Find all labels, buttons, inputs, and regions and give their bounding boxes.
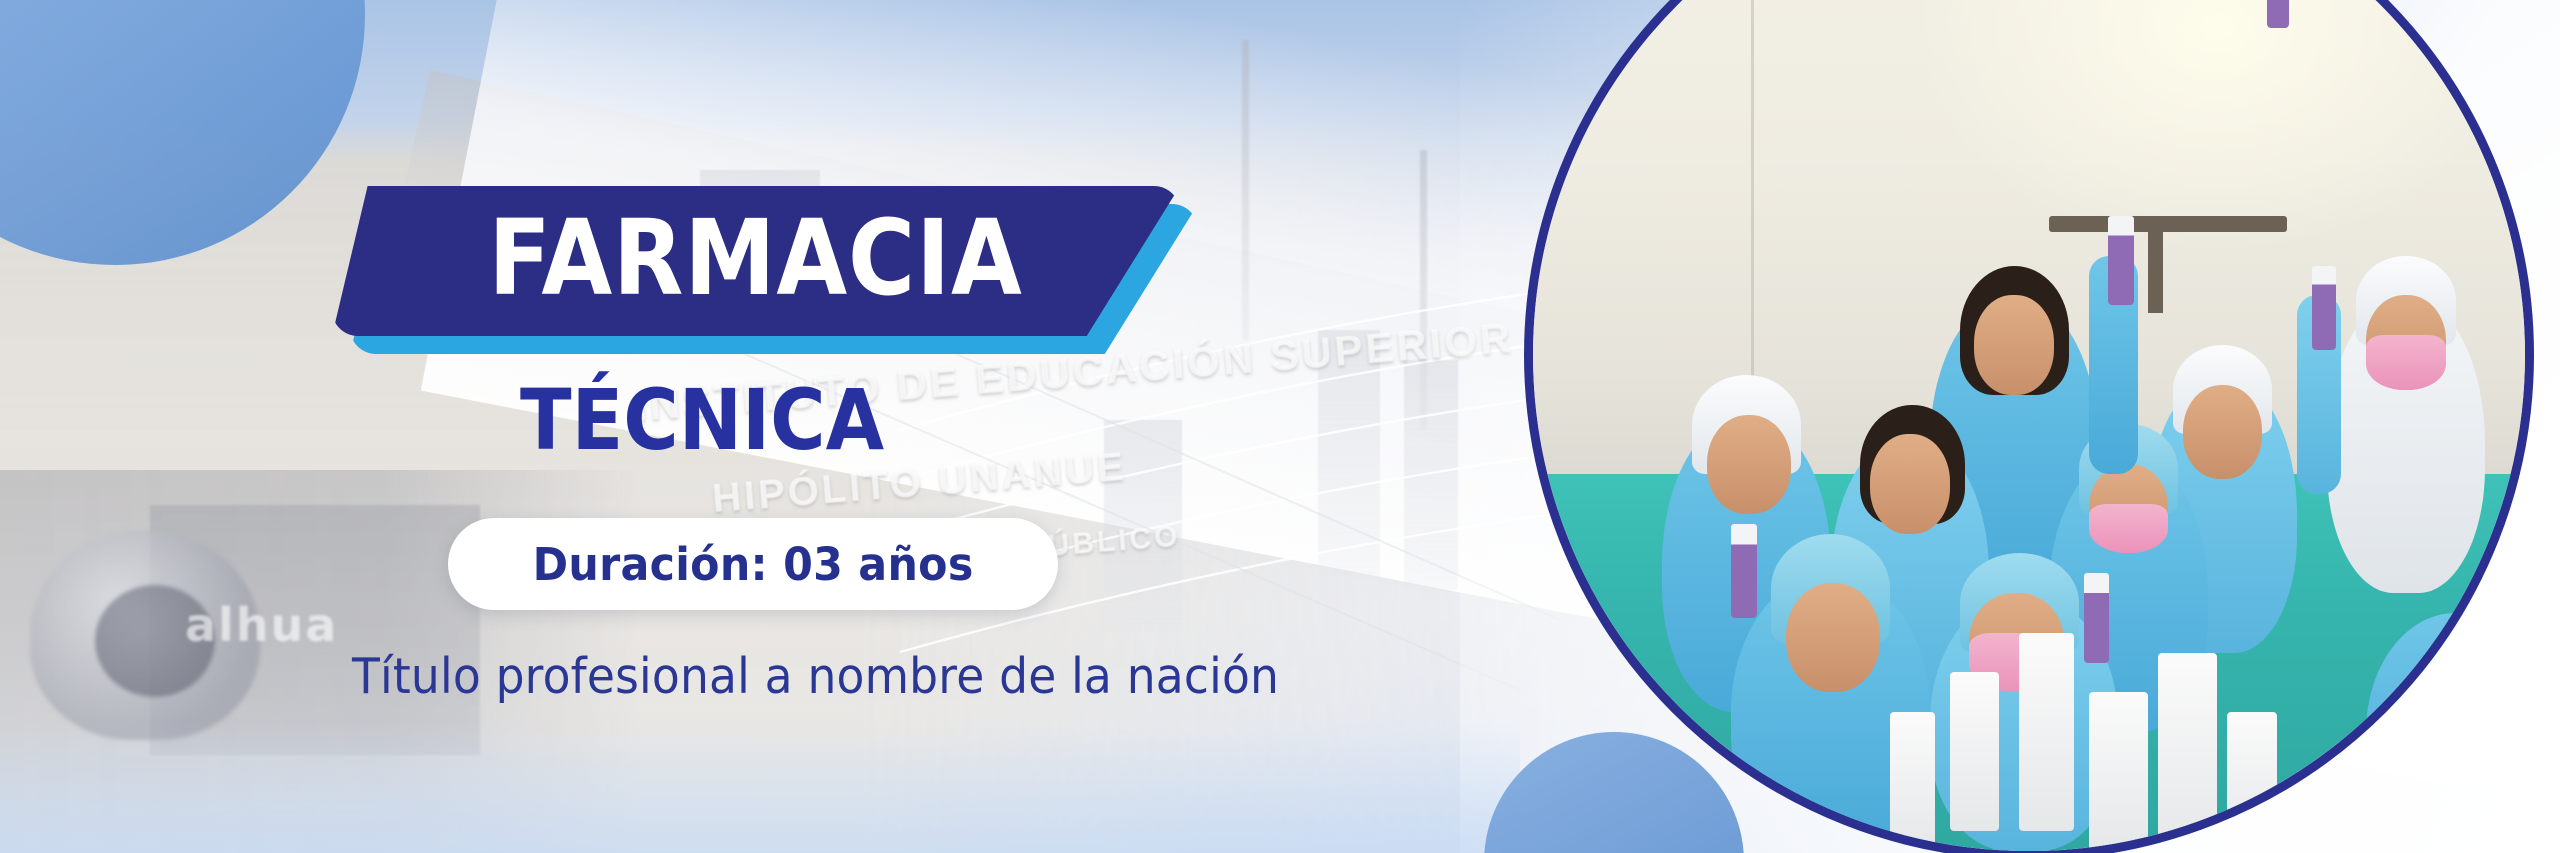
background-brand-text: alhua [185, 598, 338, 652]
lab-bottle [2227, 712, 2277, 851]
lab-bottle [1890, 712, 1935, 851]
photo-face-mask [2089, 504, 2168, 554]
product-bottle [2084, 573, 2110, 662]
photo-person-face [1974, 295, 2053, 394]
photo-wall-rail [2049, 216, 2287, 232]
photo-person-face [1707, 415, 1791, 514]
lab-bottle [2089, 692, 2149, 851]
program-title: FARMACIA [489, 206, 1023, 316]
program-subtitle: TÉCNICA [520, 378, 884, 462]
photo-person [2366, 613, 2534, 851]
photo-person-face [1870, 434, 1949, 533]
program-hero-banner: alhua INSTITUTO DE EDUCACIÓN SUPERIOR HI… [0, 0, 2560, 853]
program-title-banner: FARMACIA [332, 186, 1202, 361]
duration-badge: Duración: 03 años [448, 518, 1058, 610]
duration-badge-label: Duración: 03 años [533, 538, 974, 591]
product-bottle [2108, 216, 2134, 305]
lab-bottle [2019, 633, 2074, 831]
product-bottle [2312, 266, 2336, 350]
lab-bottle [1950, 672, 2000, 831]
lab-bottle [2158, 653, 2218, 851]
photo-person-face [2183, 385, 2262, 479]
photo-face-mask [2366, 335, 2445, 390]
photo-wall-seam [1751, 0, 1754, 415]
photo-person-face [1786, 583, 1880, 692]
students-photo-content [1533, 0, 2525, 851]
degree-note: Título profesional a nombre de la nación [352, 648, 1279, 705]
photo-wall-rail-stem [2148, 231, 2163, 313]
banner-main-shape: FARMACIA [332, 186, 1180, 336]
product-bottle [2267, 0, 2289, 28]
students-photo [1524, 0, 2534, 853]
product-bottle [1731, 524, 1757, 618]
